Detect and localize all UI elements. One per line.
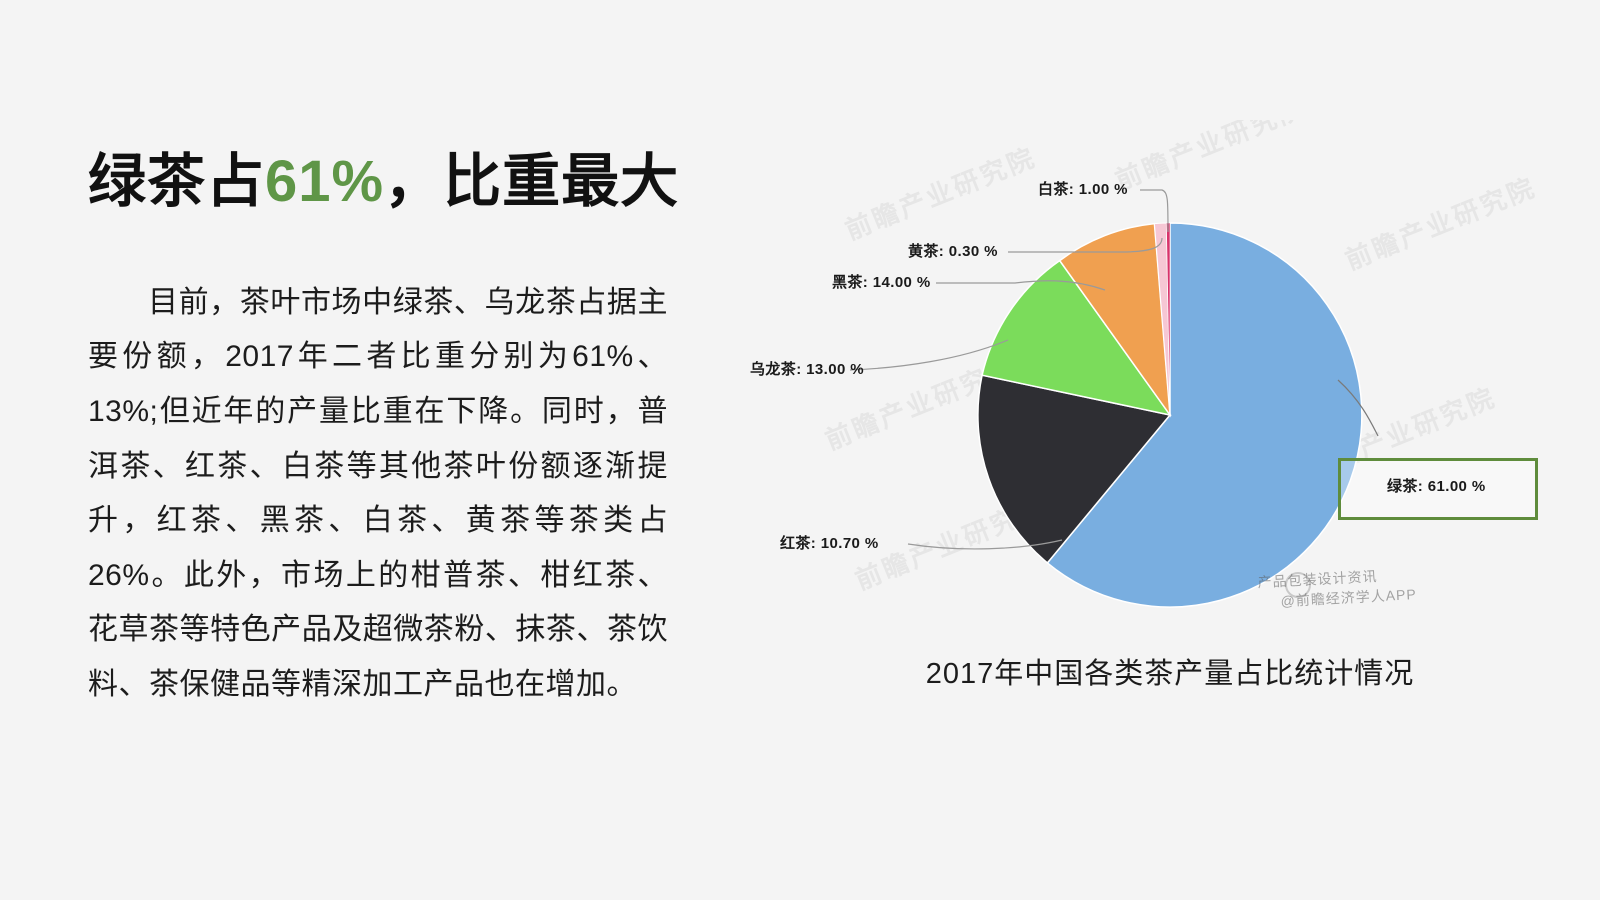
svg-text:前瞻产业研究院: 前瞻产业研究院 (1341, 172, 1540, 276)
pie-label-heicha: 黑茶: 14.00 % (832, 271, 931, 292)
body-paragraph-container: 目前，茶叶市场中绿茶、乌龙茶占据主要份额，2017年二者比重分别为61%、13%… (88, 276, 668, 713)
chart-caption: 2017年中国各类茶产量占比统计情况 (790, 650, 1550, 692)
pie-label-baicha: 白茶: 1.00 % (1038, 178, 1128, 199)
body-paragraph: 目前，茶叶市场中绿茶、乌龙茶占据主要份额，2017年二者比重分别为61%、13%… (88, 276, 668, 713)
left-text-column: 绿茶占61%，比重最大 目前，茶叶市场中绿茶、乌龙茶占据主要份额，2017年二者… (88, 150, 668, 713)
page-title: 绿茶占61%，比重最大 (88, 150, 668, 214)
svg-text:前瞻产业研究院: 前瞻产业研究院 (841, 142, 1040, 246)
pie-label-lvcha: 绿茶: 61.00 % (1387, 478, 1486, 495)
pie-chart-svg: 前瞻产业研究院 前瞻产业研究院 前瞻产业研究院 前瞻产业研究院 前瞻产业研究院 … (790, 120, 1550, 690)
svg-text:前瞻产业研究院: 前瞻产业研究院 (1111, 120, 1310, 196)
slide-root: 绿茶占61%，比重最大 目前，茶叶市场中绿茶、乌龙茶占据主要份额，2017年二者… (0, 0, 1600, 900)
headline-suffix: ，比重最大 (384, 149, 679, 214)
pie-label-huangcha: 黄茶: 0.30 % (908, 240, 998, 261)
pie-chart-panel: 前瞻产业研究院 前瞻产业研究院 前瞻产业研究院 前瞻产业研究院 前瞻产业研究院 … (790, 120, 1550, 740)
pie-label-wulongcha: 乌龙茶: 13.00 % (750, 358, 864, 379)
pie-label-lvcha-highlight-box[interactable]: 绿茶: 61.00 % (1338, 458, 1538, 520)
headline-prefix: 绿茶占 (88, 149, 265, 214)
pie-label-hongcha: 红茶: 10.70 % (780, 532, 879, 553)
headline-accent-percent: 61% (265, 149, 384, 214)
